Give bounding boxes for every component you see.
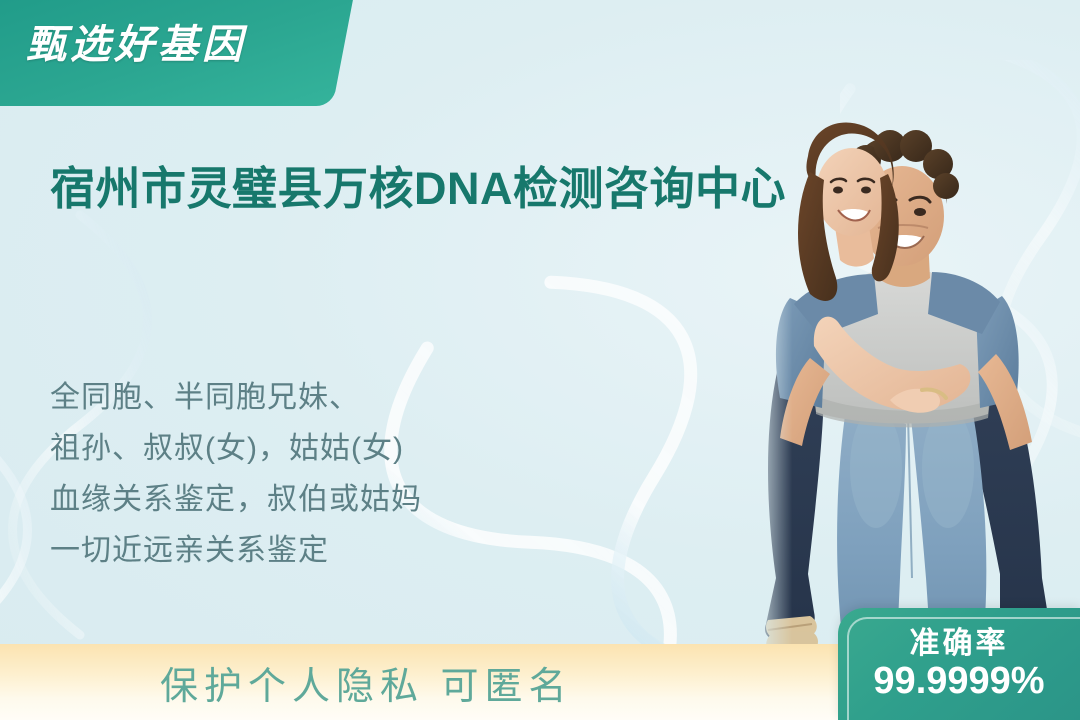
promo-banner: 甄选好基因 宿州市灵璧县万核DNA检测咨询中心 全同胞、半同胞兄妹、 祖孙、叔叔… — [0, 0, 1080, 720]
service-line: 祖孙、叔叔(女)，姑姑(女) — [50, 423, 650, 474]
brand-banner: 甄选好基因 — [0, 0, 362, 108]
brand-name: 甄选好基因 — [26, 6, 316, 76]
service-line: 全同胞、半同胞兄妹、 — [50, 372, 650, 423]
service-line: 血缘关系鉴定，叔伯或姑妈 — [50, 474, 650, 525]
accuracy-value: 99.9999% — [838, 660, 1080, 703]
service-line: 一切近远亲关系鉴定 — [50, 525, 650, 576]
accuracy-badge: 准确率 99.9999% — [838, 608, 1080, 720]
accuracy-label: 准确率 — [838, 618, 1080, 662]
page-title: 宿州市灵璧县万核DNA检测咨询中心 — [50, 158, 820, 220]
service-description: 全同胞、半同胞兄妹、 祖孙、叔叔(女)，姑姑(女) 血缘关系鉴定，叔伯或姑妈 一… — [50, 372, 650, 576]
